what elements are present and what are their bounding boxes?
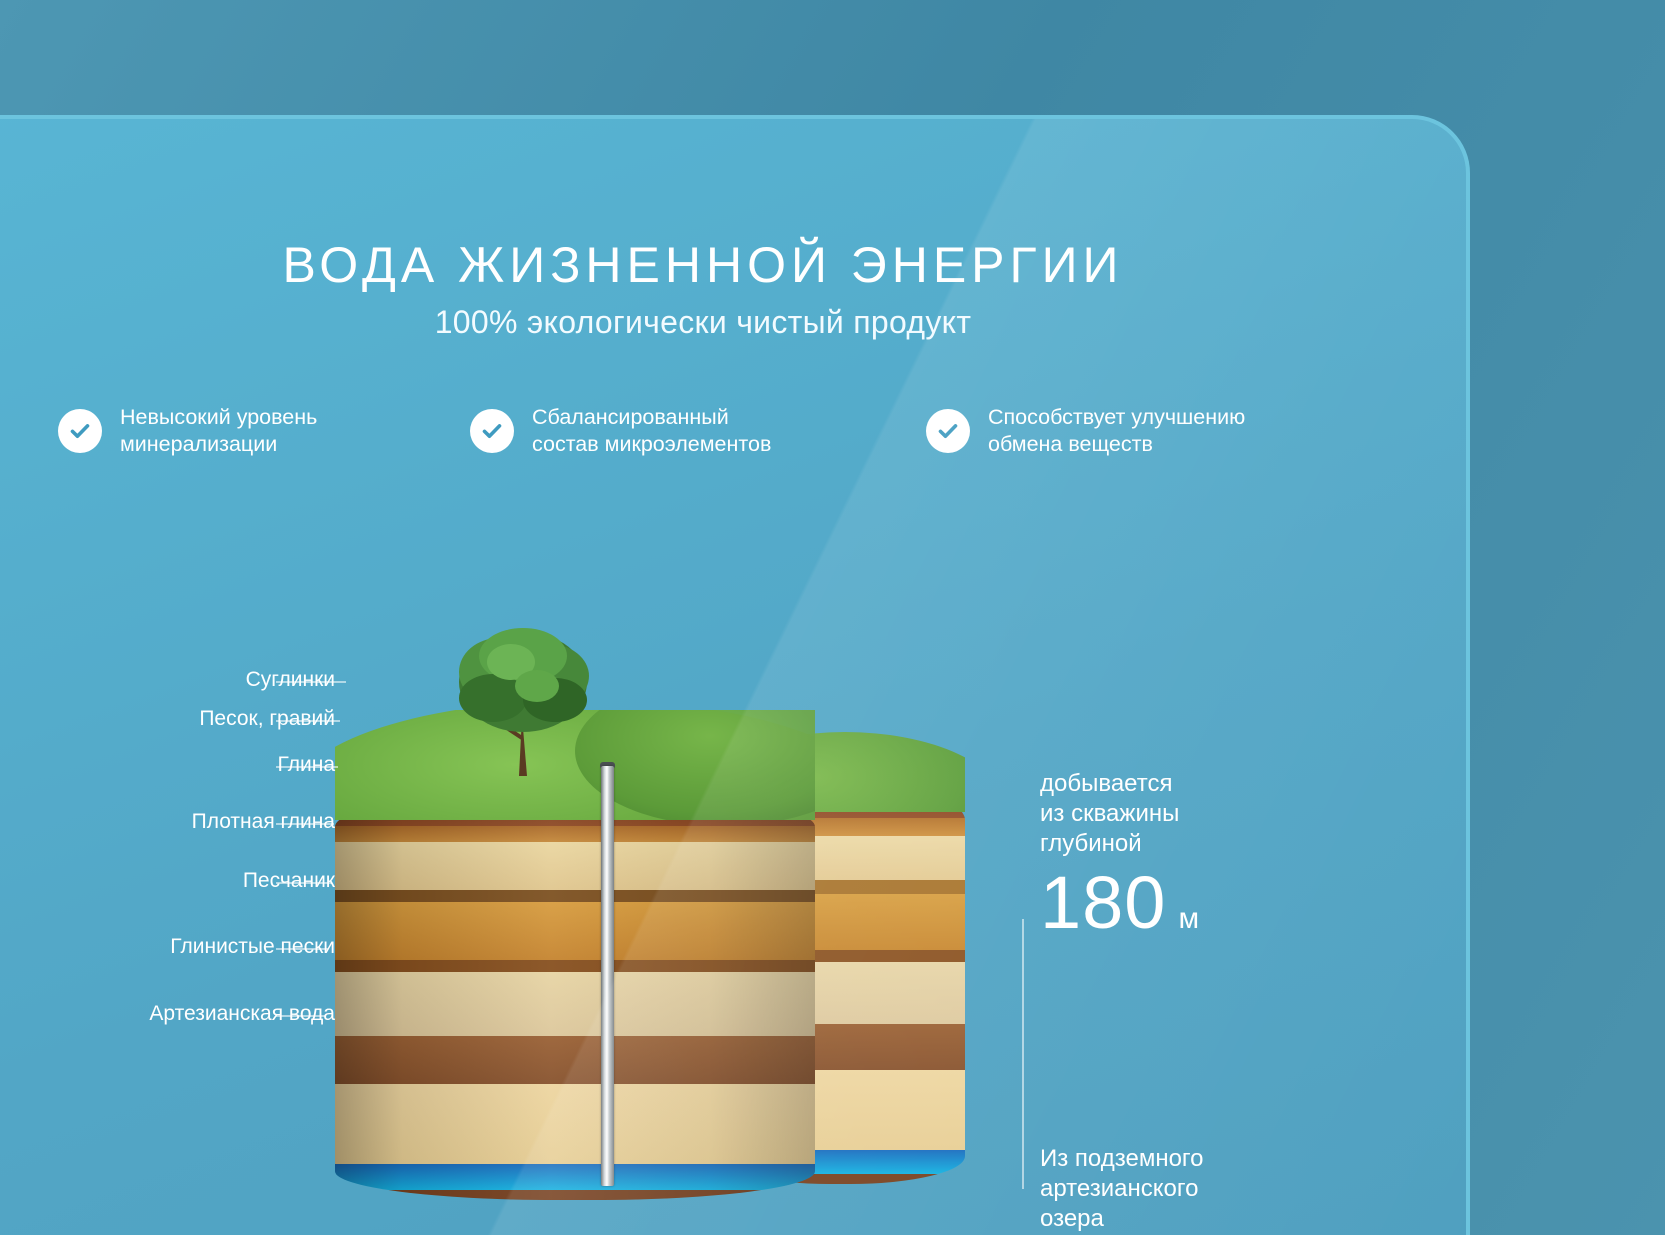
feature-label: Способствует улучшению обмена веществ: [988, 404, 1245, 458]
leader-line: [276, 720, 340, 722]
feature-item-microelements: Сбалансированный состав микроэлементов: [470, 404, 771, 458]
layer-label-list: Суглинки Песок, гравий Глина Плотная гли…: [0, 119, 335, 1235]
leader-line: [276, 823, 334, 825]
layer-label-plotnaya-glina: Плотная глина: [5, 810, 335, 834]
content-panel: ВОДА ЖИЗНЕННОЙ ЭНЕРГИИ 100% экологически…: [0, 115, 1470, 1235]
layer-label-artezianskaya-voda: Артезианская вода: [5, 1002, 335, 1026]
feature-label: Сбалансированный состав микроэлементов: [532, 404, 771, 458]
soil-cross-section: [335, 614, 975, 1214]
leader-line: [276, 766, 338, 768]
leader-line: [276, 1015, 326, 1017]
depth-measure-line: [1022, 919, 1024, 1189]
feature-item-metabolism: Способствует улучшению обмена веществ: [926, 404, 1245, 458]
infographic-root: ВОДА ЖИЗНЕННОЙ ЭНЕРГИИ 100% экологически…: [0, 0, 1665, 1235]
soil-column-front: [335, 790, 815, 1200]
layer-label-peschanik: Песчаник: [5, 869, 335, 893]
well-pipe: [601, 766, 614, 1186]
leader-line: [276, 882, 332, 884]
depth-unit: м: [1178, 902, 1199, 936]
layer-label-pesok-graviy: Песок, гравий: [5, 707, 335, 731]
layer-label-suglinki: Суглинки: [5, 668, 335, 692]
tree-illustration: [423, 620, 623, 780]
depth-callout: добывается из скважины глубиной 180 м: [1040, 769, 1370, 943]
source-note: Из подземного артезианского озера: [1040, 1144, 1340, 1234]
layer-label-glinistye-peski: Глинистые пески: [5, 935, 335, 959]
depth-value-row: 180 м: [1040, 863, 1370, 943]
depth-value: 180: [1040, 863, 1166, 943]
check-icon: [470, 409, 514, 453]
leader-line: [276, 948, 328, 950]
depth-callout-lead: добывается из скважины глубиной: [1040, 769, 1370, 859]
check-icon: [926, 409, 970, 453]
leader-line: [276, 681, 346, 683]
layer-label-glina: Глина: [5, 753, 335, 777]
